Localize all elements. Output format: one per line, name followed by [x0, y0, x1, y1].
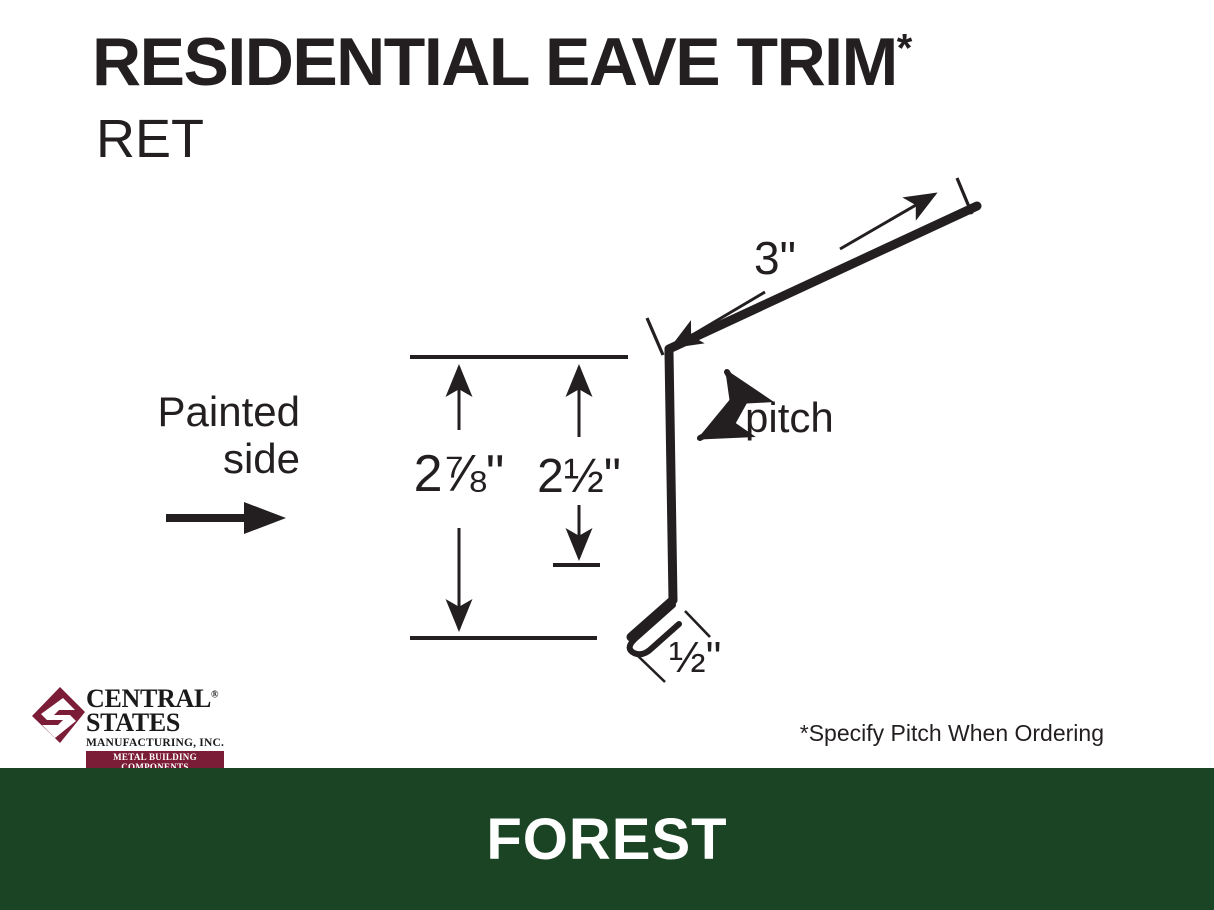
footnote: *Specify Pitch When Ordering — [800, 720, 1104, 747]
dimension-arrow-lower — [672, 292, 765, 347]
color-name: FOREST — [486, 806, 727, 873]
color-banner: FOREST — [0, 768, 1214, 910]
pitch-label: pitch — [745, 394, 834, 441]
top-flange-dimension: 3" — [647, 178, 972, 355]
company-logo: CENTRAL® STATES MANUFACTURING, INC. META… — [30, 686, 230, 752]
central-states-diamond-s-logo-icon — [30, 686, 86, 750]
witness-tick-lower — [647, 318, 663, 355]
logo-wordmark: CENTRAL® STATES MANUFACTURING, INC. META… — [86, 687, 232, 774]
product-spec-sheet: RESIDENTIAL EAVE TRIM* RET Painted side — [0, 0, 1214, 910]
profile-top-flange — [669, 206, 977, 349]
face-height-dimension: 2½" — [537, 367, 621, 565]
dimension-label-face-height: 2½" — [537, 450, 621, 503]
logo-manufacturing-line: MANUFACTURING, INC. — [86, 737, 232, 749]
registered-mark: ® — [211, 689, 218, 700]
dimension-label-hem: ½" — [669, 633, 721, 682]
profile-vertical-leg — [669, 349, 673, 600]
dimension-arrow-upper — [840, 194, 935, 249]
logo-word-states: STATES — [86, 711, 232, 735]
hem-leader-lower — [638, 656, 665, 682]
dimension-label-overall-height: 2⅞" — [414, 445, 505, 503]
dimension-label-top-flange: 3" — [754, 232, 796, 284]
curved-double-arrow-icon — [700, 372, 735, 438]
pitch-callout: pitch — [700, 372, 834, 441]
